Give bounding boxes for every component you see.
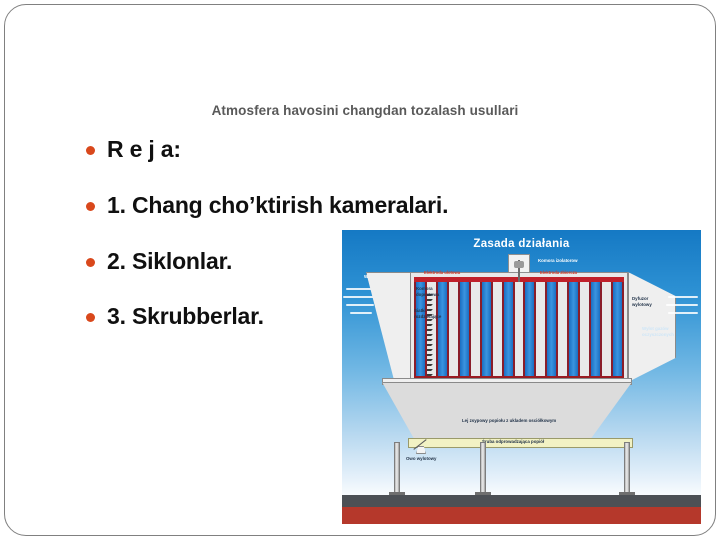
inlet-flow-line (346, 304, 374, 306)
hopper-label: Lej zsypowy popiołu z ukladem osciółkowy… (462, 418, 556, 424)
inlet-flow-line (343, 296, 375, 298)
collecting-plate (523, 282, 536, 378)
collecting-plate (502, 282, 515, 378)
collecting-plate (611, 282, 624, 378)
list-item-label: 1. Chang cho’ktirish kameralari. (107, 192, 448, 218)
outlet-flow-line (668, 312, 698, 314)
inlet-chamber-label: Komora dopustowa (416, 286, 446, 299)
bullet-dot-icon (86, 146, 95, 155)
ground-slab-dark (342, 495, 701, 507)
screw-conveyor-label: Śruba odprowadzająca popiół (482, 439, 544, 445)
inlet-diffuser-cone (366, 272, 412, 382)
list-item-label: 3. Skrubberlar. (107, 303, 264, 329)
collecting-plate (458, 282, 471, 378)
dust-outlet-label: Owo wylotowy (406, 456, 437, 462)
electrostatic-precipitator-diagram: Zasada działania Wlot gazów surowych (342, 230, 701, 524)
bullet-dot-icon (86, 202, 95, 211)
collecting-electrode-label: Elektroda zbiorcza (540, 270, 577, 275)
support-leg (394, 442, 400, 496)
rapper-hammer-icon (514, 261, 524, 268)
collecting-plate (589, 282, 602, 378)
discharge-electrode-label: Elektroda ulotowa (424, 270, 460, 275)
list-item: R e j a: (83, 137, 553, 163)
collecting-plate (480, 282, 493, 378)
support-leg (480, 442, 486, 496)
bullet-dot-icon (86, 313, 95, 322)
bullet-dot-icon (86, 258, 95, 267)
presentation-slide: Atmosfera havosini changdan tozalash usu… (4, 4, 716, 536)
ash-hopper (382, 382, 632, 444)
diagram-title: Zasada działania (342, 238, 701, 250)
list-item: 1. Chang cho’ktirish kameralari. (83, 193, 553, 219)
outlet-flow-line (666, 304, 698, 306)
outlet-diffuser-label: Dyfuzor wylotowy (632, 296, 660, 309)
page-title: Atmosfera havosini changdan tozalash usu… (65, 103, 665, 118)
distribution-grid-label: Siatki rozdzielające (414, 308, 440, 321)
inlet-flow-line (346, 288, 374, 290)
support-leg (624, 442, 630, 496)
inlet-flow-line (350, 312, 372, 314)
outlet-flow-label: Wylot gazów oczyszczonych (642, 326, 676, 339)
collecting-plate (545, 282, 558, 378)
collecting-plate (567, 282, 580, 378)
list-item-label: 2. Siklonlar. (107, 248, 232, 274)
list-item-label: R e j a: (107, 136, 181, 162)
ground-slab-red (342, 507, 701, 524)
insulator-chamber-label: Komora izolatorow (538, 258, 578, 264)
outlet-flow-line (668, 296, 698, 298)
